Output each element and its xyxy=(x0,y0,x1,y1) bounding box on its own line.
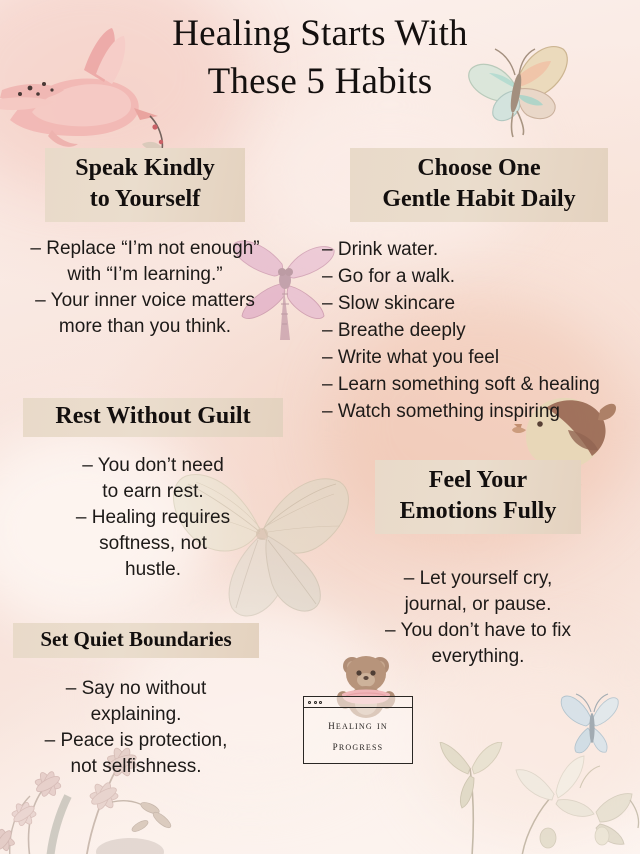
list-item: – Healing requires xyxy=(22,505,284,531)
list-item: – Go for a walk. xyxy=(322,263,640,290)
section-body-feel-your-emotions: – Let yourself cry, journal, or pause. –… xyxy=(358,566,598,670)
card-title-bar xyxy=(304,697,412,708)
section-heading-speak-kindly: Speak Kindly to Yourself xyxy=(45,148,245,222)
pressed-flowers-icon xyxy=(430,742,640,854)
heading-line: Speak Kindly xyxy=(55,153,235,184)
window-dot-icon xyxy=(308,701,311,704)
heading-line: Rest Without Guilt xyxy=(31,401,275,432)
title-line-1: Healing Starts With xyxy=(0,10,640,58)
list-item: with “I’m learning.” xyxy=(20,262,270,288)
window-dot-icon xyxy=(319,701,322,704)
list-item: more than you think. xyxy=(20,314,270,340)
list-item: everything. xyxy=(358,644,598,670)
heading-line: Choose One xyxy=(360,153,598,184)
section-body-rest-without-guilt: – You don’t need to earn rest. – Healing… xyxy=(22,453,284,583)
section-feel-your-emotions: Feel Your Emotions Fully – Let yourself … xyxy=(358,460,598,670)
section-set-quiet-boundaries: Set Quiet Boundaries – Say no without ex… xyxy=(12,623,260,780)
section-choose-one-gentle-habit: Choose One Gentle Habit Daily – Drink wa… xyxy=(318,148,640,425)
section-body-set-quiet-boundaries: – Say no without explaining. – Peace is … xyxy=(12,676,260,780)
list-item: – Replace “I’m not enough” xyxy=(20,236,270,262)
card-body: Healing in progress xyxy=(304,708,412,763)
watercolor-blotch xyxy=(420,640,640,840)
infographic-poster: Healing Starts With These 5 Habits Speak… xyxy=(0,0,640,854)
section-heading-set-quiet-boundaries: Set Quiet Boundaries xyxy=(13,623,259,658)
blue-butterfly-icon xyxy=(560,688,622,758)
list-item: – Your inner voice matters xyxy=(20,288,270,314)
heading-line: to Yourself xyxy=(55,184,235,215)
list-item: explaining. xyxy=(12,702,260,728)
list-item: softness, not xyxy=(22,531,284,557)
list-item: to earn rest. xyxy=(22,479,284,505)
poster-title: Healing Starts With These 5 Habits xyxy=(0,10,640,106)
list-item: – You don’t have to fix xyxy=(358,618,598,644)
list-item: – You don’t need xyxy=(22,453,284,479)
heading-line: Gentle Habit Daily xyxy=(360,184,598,215)
list-item: – Say no without xyxy=(12,676,260,702)
title-line-2: These 5 Habits xyxy=(0,58,640,106)
list-item: journal, or pause. xyxy=(358,592,598,618)
list-item: – Let yourself cry, xyxy=(358,566,598,592)
list-item: – Peace is protection, xyxy=(12,728,260,754)
heading-line: Feel Your xyxy=(385,465,571,496)
heading-line: Emotions Fully xyxy=(385,496,571,527)
section-body-speak-kindly: – Replace “I’m not enough” with “I’m lea… xyxy=(20,236,270,340)
list-item: – Watch something inspiring xyxy=(322,398,640,425)
card-line-1: Healing in xyxy=(328,717,388,733)
healing-in-progress-card: Healing in progress xyxy=(303,696,413,764)
window-dot-icon xyxy=(314,701,317,704)
list-item: – Learn something soft & healing xyxy=(322,371,640,398)
section-heading-rest-without-guilt: Rest Without Guilt xyxy=(23,398,283,437)
list-item: not selfishness. xyxy=(12,754,260,780)
section-rest-without-guilt: Rest Without Guilt – You don’t need to e… xyxy=(22,398,284,583)
section-heading-choose-one-gentle-habit: Choose One Gentle Habit Daily xyxy=(350,148,608,222)
card-line-2: progress xyxy=(333,738,384,754)
section-body-choose-one-gentle-habit: – Drink water. – Go for a walk. – Slow s… xyxy=(318,236,640,425)
list-item: – Slow skincare xyxy=(322,290,640,317)
list-item: hustle. xyxy=(22,557,284,583)
section-speak-kindly: Speak Kindly to Yourself – Replace “I’m … xyxy=(20,148,270,340)
heading-line: Set Quiet Boundaries xyxy=(21,626,251,653)
section-heading-feel-your-emotions: Feel Your Emotions Fully xyxy=(375,460,581,534)
list-item: – Write what you feel xyxy=(322,344,640,371)
list-item: – Drink water. xyxy=(322,236,640,263)
list-item: – Breathe deeply xyxy=(322,317,640,344)
